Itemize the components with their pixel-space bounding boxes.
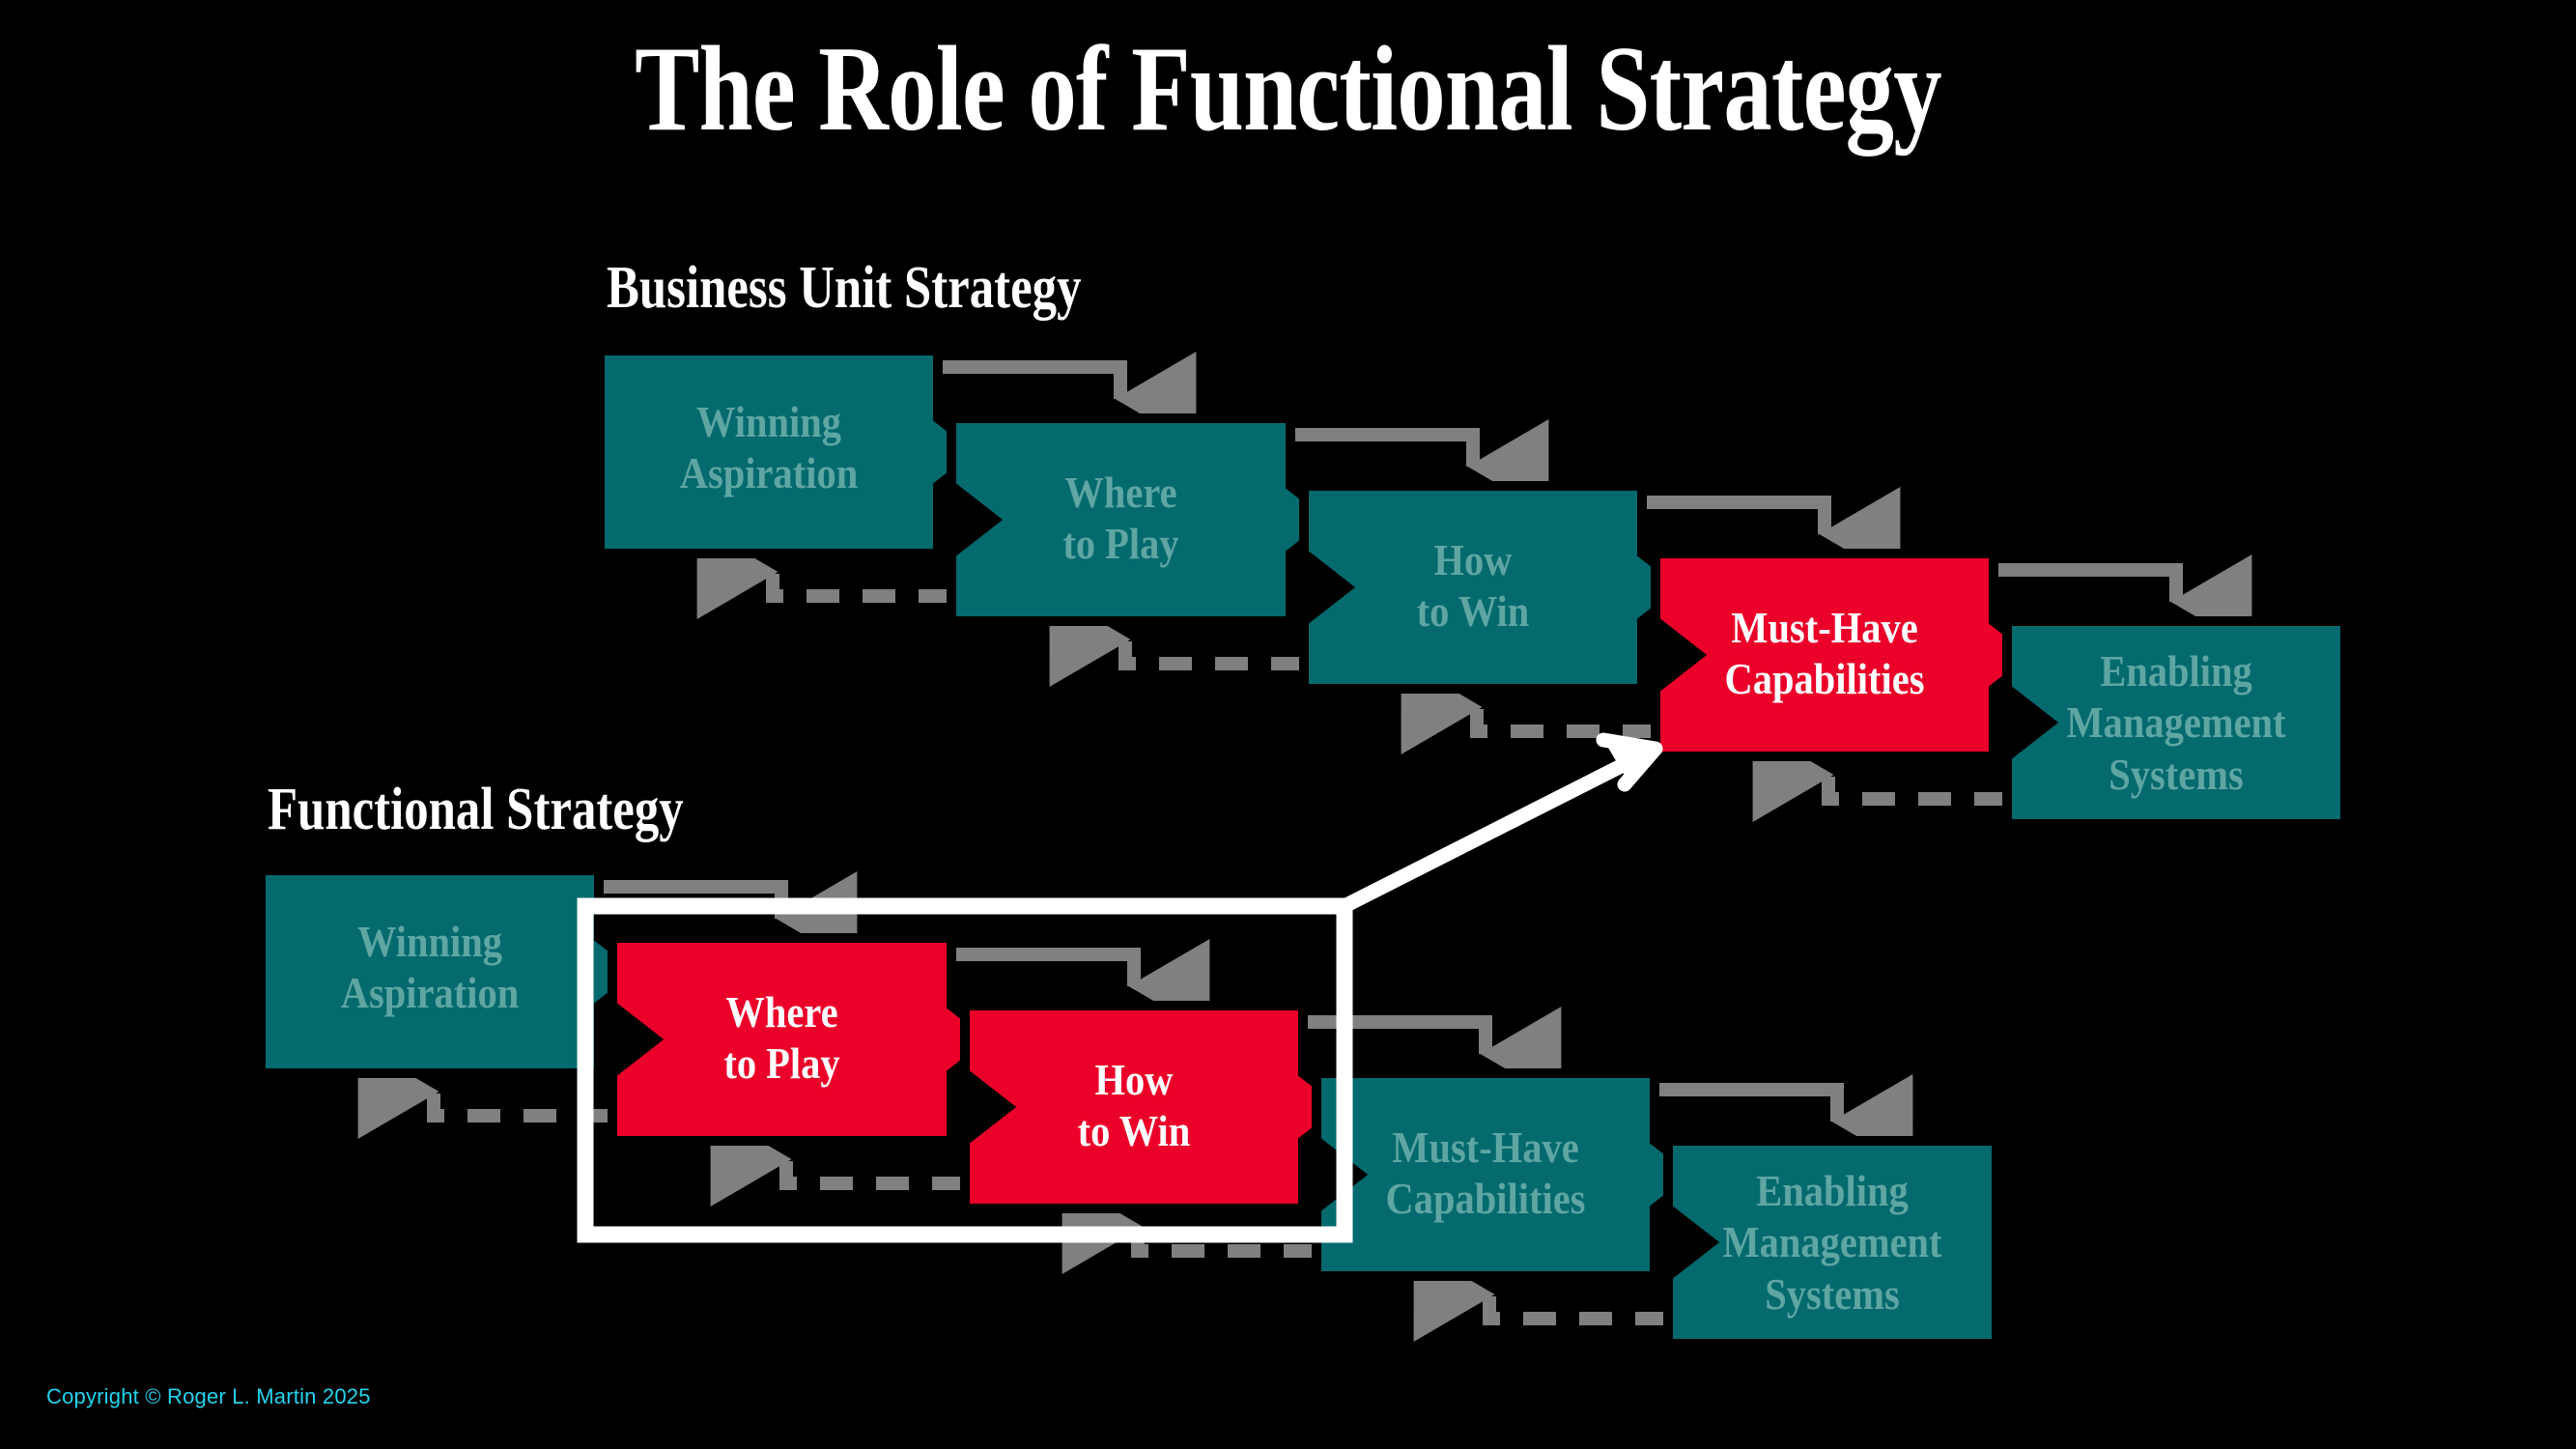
page-title: The Role of Functional Strategy xyxy=(258,23,2319,157)
copyright-notice: Copyright © Roger L. Martin 2025 xyxy=(46,1384,371,1409)
functional-to-must-have-arrow xyxy=(1345,740,1656,906)
functional-choice-highlight-rect[interactable] xyxy=(585,906,1345,1235)
section-label-business-unit: Business Unit Strategy xyxy=(607,257,1082,320)
highlight-layer xyxy=(0,0,2576,1449)
section-label-functional: Functional Strategy xyxy=(268,779,684,841)
slide-canvas: The Role of Functional Strategy Business… xyxy=(0,0,2576,1449)
